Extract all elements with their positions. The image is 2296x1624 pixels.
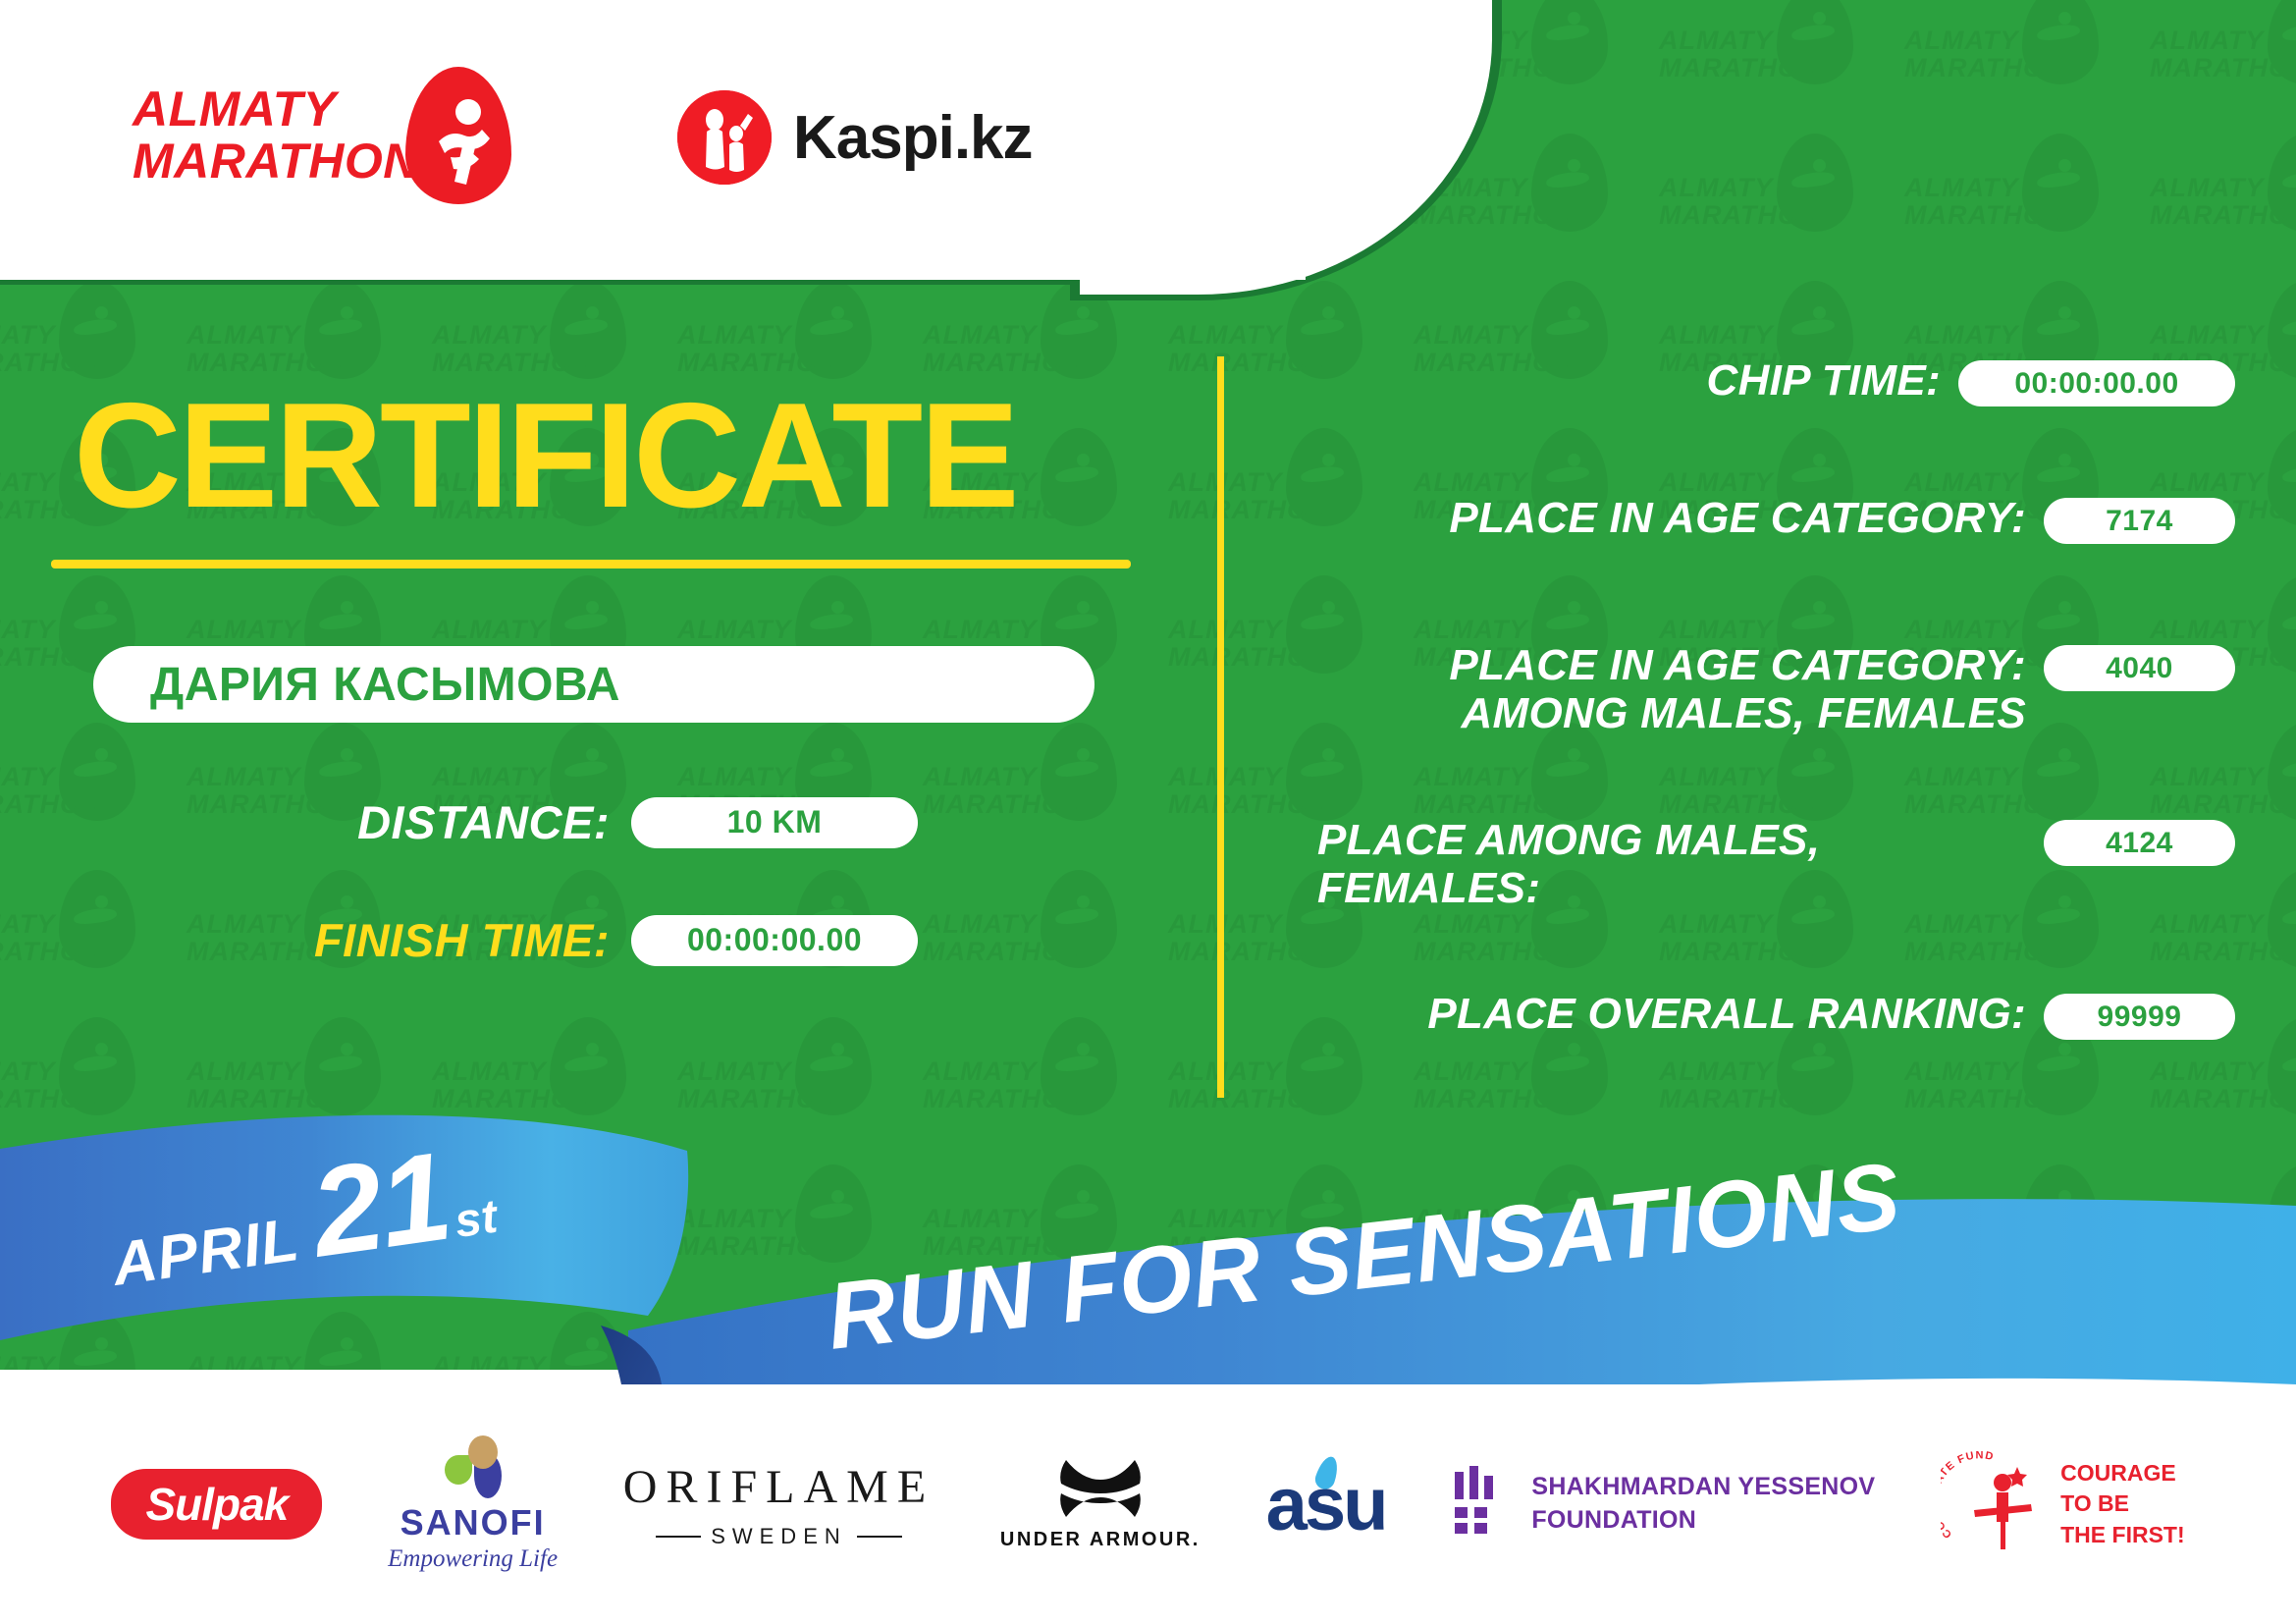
- chip-time-value-pill: 00:00:00.00: [1958, 360, 2235, 406]
- stat-row-chip-time: CHIP TIME: 00:00:00.00: [1224, 356, 2235, 406]
- stat-row-gender-place: PLACE AMONG MALES, FEMALES: 4124: [1224, 816, 2235, 913]
- sanofi-mark-icon: [441, 1435, 506, 1498]
- event-day: 21: [303, 1124, 457, 1286]
- stat-row-age-category-gender: PLACE IN AGE CATEGORY: AMONG MALES, FEMA…: [1224, 641, 2235, 738]
- participant-name: ДАРИЯ КАСЫМОВА: [150, 658, 620, 712]
- distance-label: DISTANCE:: [357, 795, 610, 849]
- kaspi-mark-icon: [677, 90, 772, 185]
- yessenov-line1: SHAKHMARDAN YESSENOV: [1531, 1471, 1875, 1504]
- age-category-gender-label-line1: PLACE IN AGE CATEGORY:: [1449, 641, 2026, 689]
- courage-line3: THE FIRST!: [2060, 1520, 2185, 1550]
- courage-line2: TO BE: [2060, 1489, 2185, 1519]
- courage-arc-text: CORPORATE FUND: [1941, 1451, 1996, 1541]
- distance-row: DISTANCE: 10 KM: [0, 795, 918, 849]
- certificate-title: CERTIFICATE: [74, 381, 1017, 530]
- yessenov-wordmark: SHAKHMARDAN YESSENOV FOUNDATION: [1531, 1471, 1875, 1538]
- runner-drop-icon: [405, 67, 511, 204]
- finish-time-value-pill: 00:00:00.00: [631, 915, 918, 966]
- stat-row-overall-ranking: PLACE OVERALL RANKING: 99999: [1224, 990, 2235, 1040]
- overall-ranking-label: PLACE OVERALL RANKING:: [1224, 990, 2044, 1038]
- sponsor-sanofi: SANOFI Empowering Life: [388, 1435, 558, 1573]
- under-armour-wordmark: UNDER ARMOUR.: [1000, 1529, 1201, 1551]
- participant-name-field: ДАРИЯ КАСЫМОВА: [93, 646, 1095, 723]
- finish-time-label: FINISH TIME:: [314, 913, 610, 967]
- courage-line1: COURAGE: [2060, 1458, 2185, 1489]
- sponsor-sulpak: Sulpak: [111, 1469, 322, 1540]
- age-category-label: PLACE IN AGE CATEGORY:: [1224, 494, 2044, 542]
- courage-wordmark: COURAGE TO BE THE FIRST!: [2060, 1458, 2185, 1549]
- sponsor-courage-fund: CORPORATE FUND COURAGE TO BE THE FIRST!: [1941, 1451, 2185, 1557]
- gender-place-label: PLACE AMONG MALES, FEMALES:: [1224, 816, 2044, 913]
- under-armour-mark-icon: [1046, 1458, 1154, 1519]
- oriflame-country: SWEDEN: [711, 1524, 847, 1549]
- kaspi-wordmark: Kaspi.kz: [793, 103, 1033, 173]
- sponsor-bar: Sulpak SANOFI Empowering Life ORIFLAME S…: [0, 1384, 2296, 1624]
- yessenov-mark-icon: [1451, 1466, 1510, 1543]
- event-day-suffix: st: [452, 1190, 501, 1249]
- column-divider: [1217, 356, 1224, 1098]
- event-month: APRIL: [108, 1205, 303, 1300]
- sponsor-oriflame: ORIFLAME SWEDEN: [623, 1460, 934, 1549]
- kaspi-logo: Kaspi.kz: [677, 90, 1033, 185]
- logo-line-almaty: ALMATY: [133, 83, 419, 135]
- title-underline: [51, 560, 1131, 568]
- stat-row-age-category: PLACE IN AGE CATEGORY: 7174: [1224, 494, 2235, 544]
- gender-place-value: 4124: [2106, 827, 2173, 860]
- oriflame-sub: SWEDEN: [656, 1524, 902, 1549]
- sponsor-yessenov-foundation: SHAKHMARDAN YESSENOV FOUNDATION: [1451, 1466, 1875, 1543]
- courage-mark-icon: CORPORATE FUND: [1941, 1451, 2047, 1557]
- almaty-marathon-logo: ALMATY MARATHON: [133, 67, 511, 204]
- certificate-canvas: ALMATYMARATHONALMATYMARATHONALMATYMARATH…: [0, 0, 2296, 1624]
- sanofi-wordmark: SANOFI: [400, 1502, 546, 1543]
- age-category-gender-value-pill: 4040: [2044, 645, 2235, 691]
- chip-time-label: CHIP TIME:: [1224, 356, 1958, 405]
- gender-place-label-line1: PLACE AMONG MALES,: [1317, 816, 1820, 864]
- oriflame-rule-right: [857, 1536, 902, 1538]
- age-category-gender-label-line2: AMONG MALES, FEMALES: [1461, 689, 2026, 737]
- age-category-value-pill: 7174: [2044, 498, 2235, 544]
- sponsor-asu: asu: [1266, 1462, 1386, 1547]
- overall-ranking-value-pill: 99999: [2044, 994, 2235, 1040]
- finish-time-value: 00:00:00.00: [687, 922, 862, 958]
- finish-time-row: FINISH TIME: 00:00:00.00: [0, 913, 918, 967]
- yessenov-line2: FOUNDATION: [1531, 1504, 1875, 1538]
- overall-ranking-value: 99999: [2098, 1001, 2182, 1034]
- sanofi-tagline: Empowering Life: [388, 1545, 558, 1573]
- distance-value: 10 KM: [727, 804, 823, 840]
- gender-place-label-line2: FEMALES:: [1317, 864, 1540, 912]
- svg-text:CORPORATE FUND: CORPORATE FUND: [1941, 1451, 1996, 1541]
- almaty-marathon-wordmark: ALMATY MARATHON: [133, 83, 419, 188]
- chip-time-value: 00:00:00.00: [2014, 367, 2178, 401]
- sponsor-under-armour: UNDER ARMOUR.: [1000, 1458, 1201, 1551]
- age-category-value: 7174: [2106, 505, 2173, 538]
- logo-line-marathon: MARATHON: [133, 135, 419, 188]
- age-category-gender-label: PLACE IN AGE CATEGORY: AMONG MALES, FEMA…: [1224, 641, 2044, 738]
- stats-column: CHIP TIME: 00:00:00.00 PLACE IN AGE CATE…: [1224, 356, 2296, 1122]
- age-category-gender-value: 4040: [2106, 652, 2173, 685]
- oriflame-rule-left: [656, 1536, 701, 1538]
- gender-place-value-pill: 4124: [2044, 820, 2235, 866]
- distance-value-pill: 10 KM: [631, 797, 918, 848]
- oriflame-wordmark: ORIFLAME: [623, 1460, 934, 1514]
